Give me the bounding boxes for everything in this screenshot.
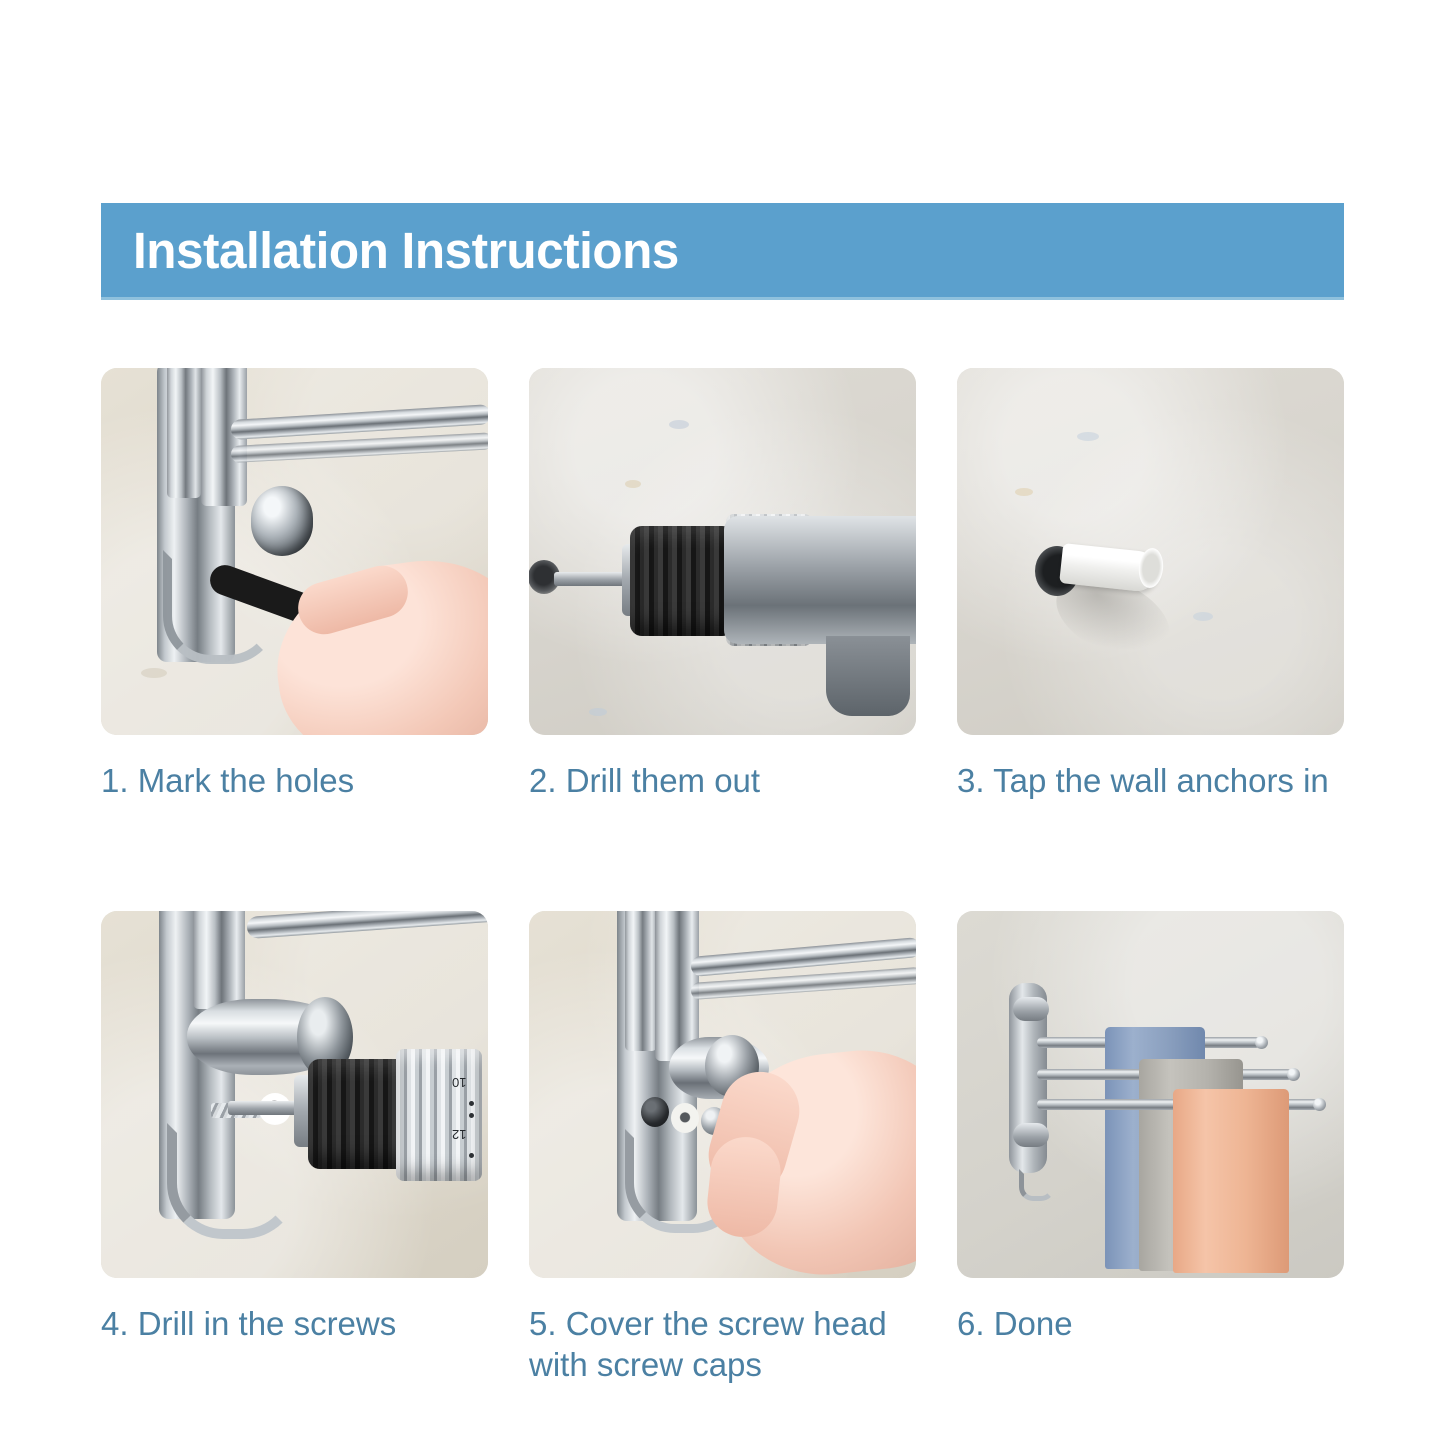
step-3: 3. Tap the wall anchors in (957, 368, 1344, 801)
drill-body (724, 516, 916, 644)
step-4-photo: 10 12 (101, 911, 488, 1278)
step-row-bottom: 10 12 4. Drill in the screws (101, 911, 1344, 1385)
wall-speck (669, 420, 689, 429)
rack-post-rear (167, 368, 201, 498)
step-5: 5. Cover the screw head with screw caps (529, 911, 916, 1385)
step-2-caption: 2. Drill them out (529, 761, 916, 801)
bracket-hook (167, 1123, 299, 1239)
page-title: Installation Instructions (133, 221, 679, 280)
torque-mark-12: 12 (452, 1127, 466, 1142)
step-6-caption: 6. Done (957, 1304, 1344, 1344)
wall-speck (141, 668, 167, 678)
step-1-photo (101, 368, 488, 735)
step-4-caption: 4. Drill in the screws (101, 1304, 488, 1344)
step-4: 10 12 4. Drill in the screws (101, 911, 488, 1385)
step-3-photo (957, 368, 1344, 735)
drill-bit (554, 572, 630, 586)
drill-chuck (630, 526, 734, 636)
wall-speck (1077, 432, 1099, 441)
wall-speck (625, 480, 641, 488)
step-6: 6. Done (957, 911, 1344, 1385)
wall-speck (589, 708, 607, 716)
wall-speck (1015, 488, 1033, 496)
step-3-caption: 3. Tap the wall anchors in (957, 761, 1344, 801)
collar-tick (469, 1153, 474, 1158)
pivot-knob (251, 486, 313, 556)
rack-post-rear (625, 911, 657, 1051)
drill-grip (826, 636, 910, 716)
driver-bit (228, 1101, 300, 1115)
rack-bracket-top (1013, 997, 1049, 1021)
wall-speck (1193, 612, 1213, 621)
towel-peach (1173, 1089, 1289, 1273)
rack-hook (1019, 1169, 1055, 1201)
step-5-photo (529, 911, 916, 1278)
torque-collar: 10 12 (396, 1049, 482, 1181)
installation-steps-grid: 1. Mark the holes 10 12 (101, 368, 1344, 1385)
rack-bracket-bottom (1013, 1123, 1049, 1147)
header-banner: Installation Instructions (101, 203, 1344, 297)
step-row-top: 1. Mark the holes 10 12 (101, 368, 1344, 801)
torque-mark-10: 10 (452, 1075, 466, 1090)
step-1: 1. Mark the holes (101, 368, 488, 801)
step-2: 10 12 2. Drill them out (529, 368, 916, 801)
collar-tick (469, 1113, 474, 1118)
rack-post (193, 911, 245, 1009)
collar-tick (469, 1101, 474, 1106)
step-2-photo: 10 12 (529, 368, 916, 735)
step-6-photo (957, 911, 1344, 1278)
step-1-caption: 1. Mark the holes (101, 761, 488, 801)
step-5-caption: 5. Cover the screw head with screw caps (529, 1304, 916, 1385)
